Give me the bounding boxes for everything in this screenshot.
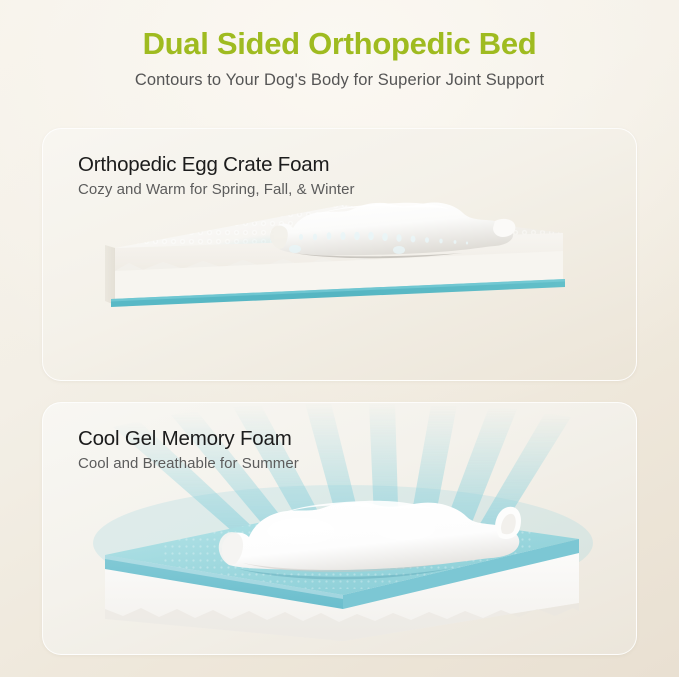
feature-card-orthopedic-egg-crate-foam: Orthopedic Egg Crate Foam Cozy and Warm …: [42, 128, 637, 381]
page-subtitle: Contours to Your Dog's Body for Superior…: [0, 71, 679, 90]
page-title: Dual Sided Orthopedic Bed: [0, 26, 679, 62]
card-subtitle-cool-gel-memory-foam: Cool and Breathable for Summer: [78, 455, 299, 472]
card-title-orthopedic-egg-crate-foam: Orthopedic Egg Crate Foam: [78, 153, 329, 177]
feature-card-cool-gel-memory-foam: Cool Gel Memory Foam Cool and Breathable…: [42, 402, 637, 655]
card-title-cool-gel-memory-foam: Cool Gel Memory Foam: [78, 427, 292, 451]
card-subtitle-orthopedic-egg-crate-foam: Cozy and Warm for Spring, Fall, & Winter: [78, 181, 355, 198]
page-header: Dual Sided Orthopedic Bed Contours to Yo…: [0, 0, 679, 90]
